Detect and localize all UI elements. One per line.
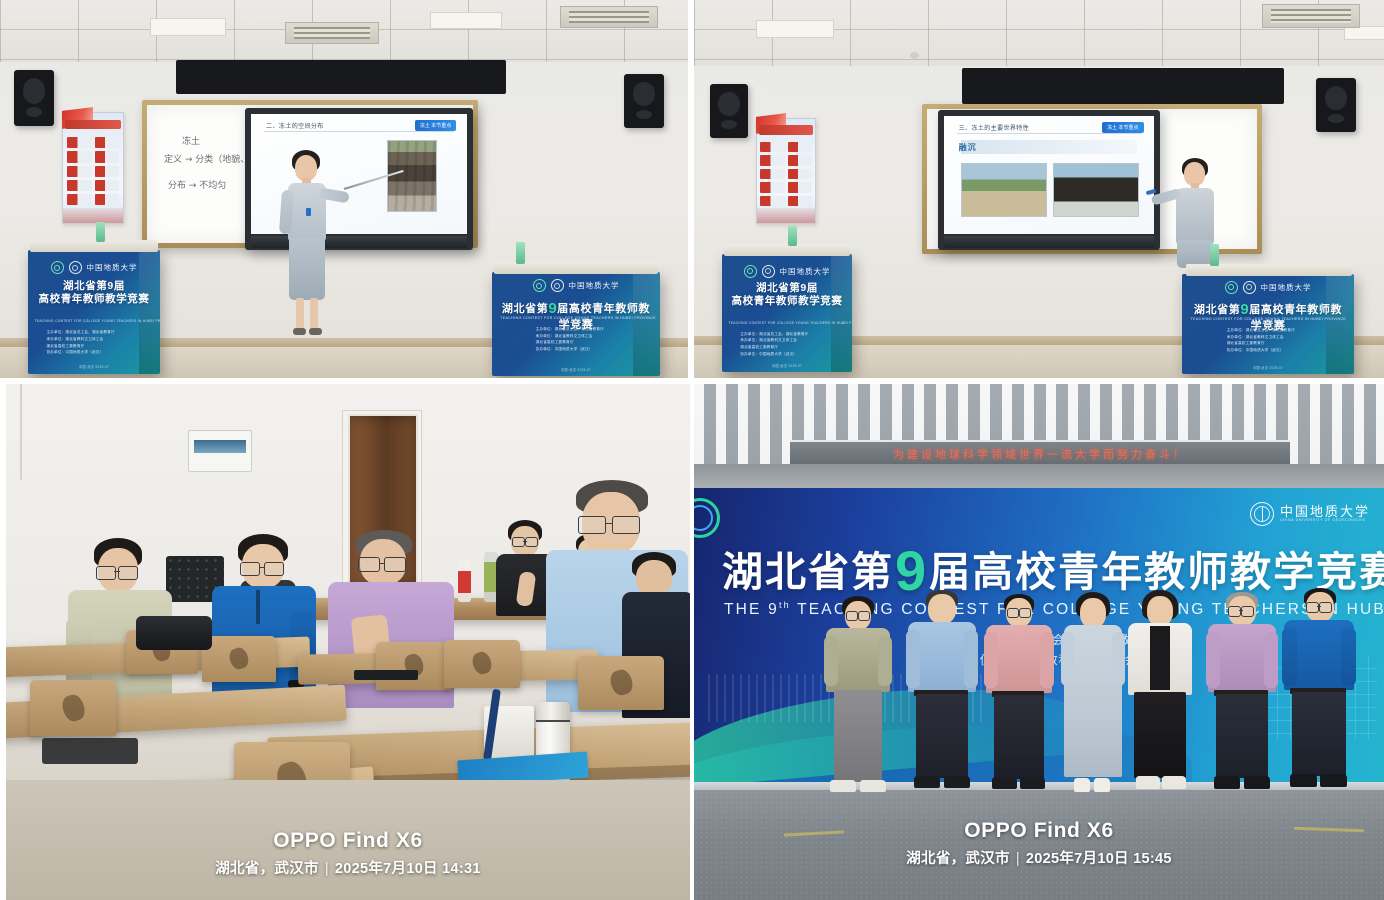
presenting-teacher — [272, 150, 342, 340]
eyeglasses-icon — [1007, 608, 1031, 616]
podium-title-en: TEACHING CONTEST FOR COLLEGE YOUNG TEACH… — [1191, 317, 1346, 321]
desk-left — [30, 240, 158, 252]
university-name-en: CHINA UNIVERSITY OF GEOSCIENCES — [1280, 519, 1370, 523]
wall-poster — [62, 112, 124, 224]
audience-judges-photo[interactable]: OPPO Find X6 湖北省，武汉市|2025年7月10日 14:31 — [6, 384, 690, 900]
university-seal-icon — [762, 265, 775, 278]
group-person-5 — [1126, 590, 1194, 796]
eyeglasses-icon — [1228, 606, 1254, 615]
group-person-6 — [1206, 592, 1278, 796]
podium-university-name: 中国地质大学 — [87, 262, 138, 273]
university-logo: 中国地质大学 CHINA UNIVERSITY OF GEOSCIENCES — [1250, 502, 1370, 526]
acoustic-panel — [176, 60, 506, 94]
banner-title-prefix: 湖北省第 — [722, 549, 894, 595]
podium-university-name: 中国地质大学 — [569, 280, 620, 291]
person-black-inner-top — [1150, 626, 1170, 690]
air-conditioner-vent — [560, 6, 658, 28]
eyeglasses-icon — [512, 537, 538, 545]
person-lanyard — [256, 590, 260, 624]
slide-tag: 冻土 本节重点 — [1102, 122, 1143, 133]
slide-photo-left — [961, 163, 1047, 217]
podium-right: 中国地质大学 湖北省第9届高校青年教师教学竞赛 TEACHING CONTEST… — [1182, 274, 1354, 374]
teacher-jacket — [1176, 188, 1214, 244]
contest-seal-icon — [1225, 281, 1238, 294]
podium-date: 中国·武汉 2025.07 — [28, 364, 160, 369]
podium-left: 中国地质大学 湖北省第9届 高校青年教师教学竞赛 TEACHING CONTES… — [28, 250, 160, 374]
slide-tag: 冻土 本节重点 — [415, 120, 456, 131]
group-person-7 — [1282, 588, 1356, 796]
contest-seal-icon — [744, 265, 757, 278]
ground-pavement — [694, 790, 1384, 900]
tablet-device[interactable] — [354, 670, 418, 680]
floor — [6, 780, 690, 900]
teacher-skirt — [289, 238, 325, 300]
wall-cable — [20, 384, 22, 480]
slide-title: 三、冻土的主要世界特性 — [959, 123, 1029, 132]
wall-poster — [756, 118, 816, 224]
wall-control-panel — [188, 430, 252, 472]
podium-organizers: 主办单位：湖北省总工会、湖北省教育厅 承办单位：湖北省教科文卫体工会 湖北省高校… — [46, 329, 149, 356]
desk-left — [724, 244, 850, 256]
ceiling-sensor-icon — [910, 52, 919, 59]
black-bag — [136, 616, 212, 650]
university-seal-icon — [551, 279, 564, 292]
ceiling-light — [1344, 26, 1384, 40]
podium-university-name: 中国地质大学 — [1261, 282, 1312, 293]
chair-back[interactable] — [578, 656, 664, 710]
chair-seat[interactable] — [42, 738, 138, 764]
podium-organizers: 主办单位：湖北省总工会、湖北省教育厅 承办单位：湖北省教科文卫体工会 湖北省高校… — [1227, 327, 1341, 354]
eyeglasses-icon — [578, 516, 640, 532]
podium-date: 中国·武汉 2025.07 — [1182, 365, 1354, 370]
podium-organizers: 主办单位：湖北省总工会、湖北省教育厅 承办单位：湖北省教科文卫体工会 湖北省高校… — [536, 326, 647, 353]
group-person-4 — [1060, 592, 1126, 796]
university-name: 中国地质大学 CHINA UNIVERSITY OF GEOSCIENCES — [1280, 505, 1370, 523]
wall-speaker — [1316, 78, 1356, 132]
podium-organizers: 主办单位：湖北省总工会、湖北省教育厅 承办单位：湖北省教科文卫体工会 湖北省高校… — [740, 331, 841, 358]
podium-university-name: 中国地质大学 — [780, 266, 831, 277]
spray-bottle — [96, 222, 105, 242]
eyeglasses-icon — [96, 566, 138, 578]
air-conditioner-vent — [1262, 4, 1360, 28]
chair-back[interactable] — [376, 642, 452, 690]
ceiling-light — [430, 12, 502, 29]
acoustic-panel — [962, 68, 1284, 104]
university-seal-icon — [1243, 281, 1256, 294]
podium-left: 中国地质大学 湖北省第9届 高校青年教师教学竞赛 TEACHING CONTES… — [722, 254, 852, 372]
group-person-3 — [984, 594, 1054, 796]
photo-collage: 冻土 定义 → 分类（地貌、管辖） 分布 → 不均匀 二、冻土的空间分布 冻土 … — [0, 0, 1384, 900]
wall-speaker — [14, 70, 54, 126]
chair-back[interactable] — [444, 640, 520, 688]
slide-keyword: 融沉 — [959, 142, 977, 153]
podium-title: 湖北省第9届 高校青年教师教学竞赛 — [33, 280, 154, 306]
group-person-2 — [906, 590, 978, 796]
podium-title-en: TEACHING CONTEST FOR COLLEGE YOUNG TEACH… — [729, 321, 846, 325]
handbag[interactable] — [484, 706, 534, 760]
whiteboard-text-line3: 分布 → 不均匀 — [168, 178, 226, 191]
banner-subtitle-pre: THE 9 — [724, 601, 779, 618]
spray-bottle — [788, 226, 797, 246]
group-photo[interactable]: 为建设地球科学领域世界一流大学而努力奋斗！ 中国地质大学 CHINA UNIVE… — [694, 384, 1384, 900]
slide-title: 二、冻土的空间分布 — [266, 121, 324, 130]
spray-bottle — [516, 242, 525, 264]
wall-speaker — [624, 74, 664, 128]
eyeglasses-icon — [846, 611, 870, 619]
wall-speaker — [710, 84, 748, 138]
teacher-presenting-photo[interactable]: 冻土 定义 → 分类（地貌、管辖） 分布 → 不均匀 二、冻土的空间分布 冻土 … — [0, 0, 688, 378]
teacher-badge — [306, 208, 311, 216]
eyeglasses-icon — [240, 562, 284, 574]
group-person-1 — [824, 596, 892, 796]
podium-title-en: TEACHING CONTEST FOR COLLEGE YOUNG TEACH… — [35, 319, 154, 323]
banner-subtitle-ordinal: th — [779, 600, 791, 610]
university-seal-icon — [69, 261, 82, 274]
eyeglasses-icon — [1306, 602, 1332, 611]
contest-ring-icon — [694, 498, 720, 538]
ceiling-light — [756, 20, 834, 38]
podium-date: 中国·武汉 2025.07 — [722, 363, 852, 368]
slide-photo — [387, 140, 437, 212]
led-banner-text: 为建设地球科学领域世界一流大学而努力奋斗！ — [893, 446, 1187, 462]
chair-back[interactable] — [30, 680, 116, 736]
podium-title-en: TEACHING CONTEST FOR COLLEGE YOUNG TEACH… — [500, 316, 651, 320]
whiteboard-text-line1: 冻土 — [182, 134, 200, 147]
smart-display[interactable]: 三、冻土的主要世界特性 冻土 本节重点 融沉 — [938, 110, 1160, 250]
spray-bottle — [1210, 244, 1219, 266]
eyeglasses-icon — [358, 557, 406, 570]
slide-screen: 三、冻土的主要世界特性 冻土 本节重点 融沉 — [944, 116, 1154, 234]
chair-back[interactable] — [202, 636, 276, 682]
university-seal-icon — [1250, 502, 1274, 526]
air-conditioner-vent — [285, 22, 379, 44]
ceiling-light — [150, 18, 226, 36]
podium-date: 中国·武汉 2025.07 — [492, 367, 660, 372]
contest-seal-icon — [533, 279, 546, 292]
slide-photo-right — [1053, 163, 1139, 217]
podium-right: 中国地质大学 湖北省第9届高校青年教师教学竞赛 TEACHING CONTEST… — [492, 272, 660, 376]
contest-seal-icon — [51, 261, 64, 274]
teacher-writing-photo[interactable]: 冻土 定义 → 分类（地貌、管辖） 分布 → 不均匀 三、冻土的主要世界特性 冻… — [694, 0, 1384, 378]
podium-title: 湖北省第9届 高校青年教师教学竞赛 — [727, 282, 847, 308]
